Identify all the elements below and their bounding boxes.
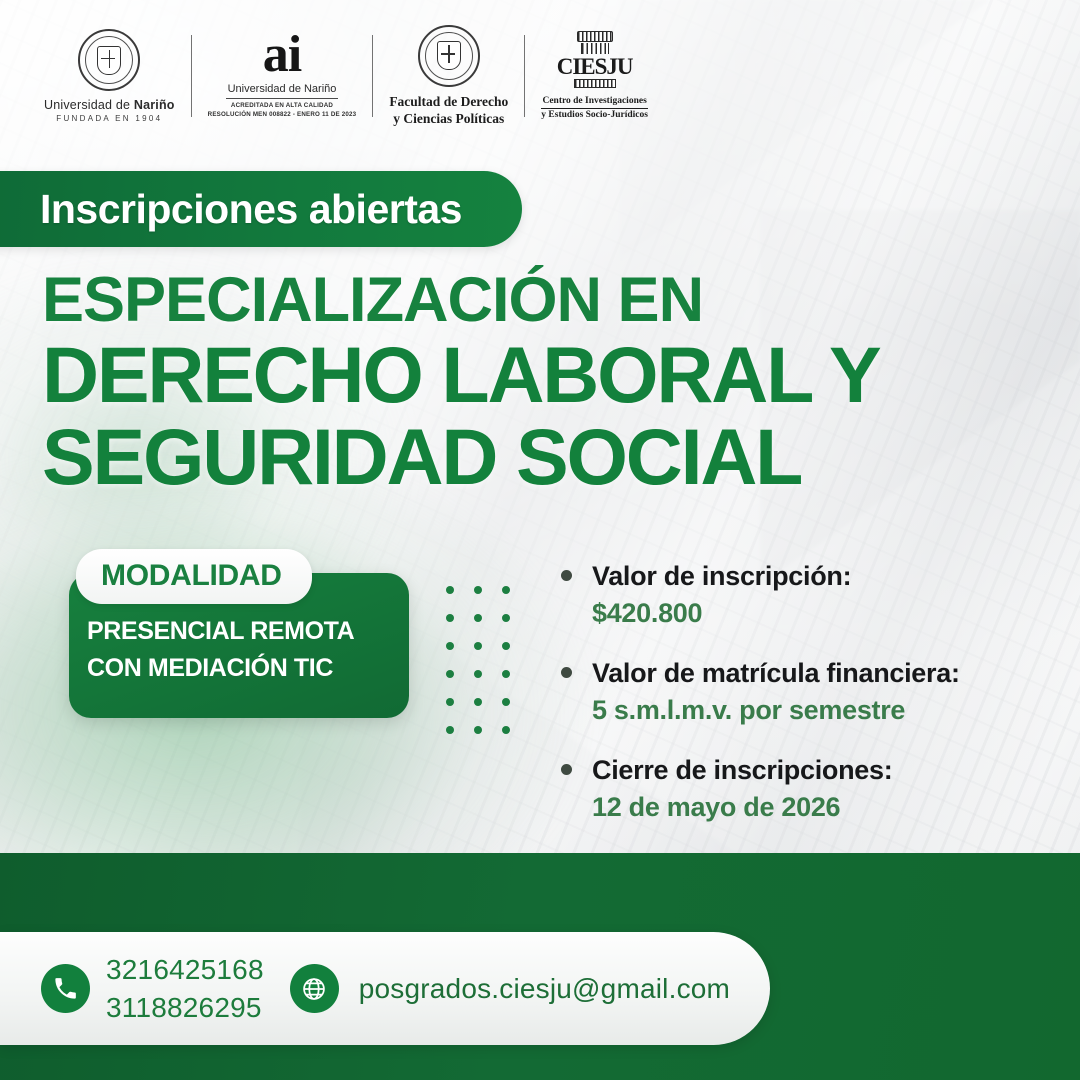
program-title: ESPECIALIZACIÓN EN DERECHO LABORAL Y SEG… xyxy=(42,268,1042,499)
logo-universidad-name-bold: Nariño xyxy=(134,98,175,112)
facultad-title: Facultad de Derecho y Ciencias Políticas xyxy=(389,94,508,128)
program-title-line3: SEGURIDAD SOCIAL xyxy=(42,416,1042,498)
info-label: Valor de inscripción: xyxy=(592,558,1028,595)
phone-number-1[interactable]: 3216425168 xyxy=(106,951,264,988)
ciesju-capital xyxy=(577,31,613,42)
modality-line2: CON MEDIACIÓN TIC xyxy=(87,650,354,687)
ciesju-shaft xyxy=(581,43,609,54)
ai-rule xyxy=(226,98,338,99)
ciesju-base xyxy=(574,79,616,88)
grid-dot xyxy=(446,586,454,594)
info-label: Valor de matrícula financiera: xyxy=(592,655,1028,692)
ciesju-subtitle-line1: Centro de Investigaciones xyxy=(541,95,648,108)
program-title-line2: DERECHO LABORAL Y xyxy=(42,334,1042,416)
phone-number-2[interactable]: 3118826295 xyxy=(106,989,264,1026)
modality-pill-label: MODALIDAD xyxy=(101,559,282,592)
info-value: 5 s.m.l.m.v. por semestre xyxy=(592,692,1028,730)
grid-dot xyxy=(446,642,454,650)
logo-strip: Universidad de Nariño FUNDADA EN 1904 ai… xyxy=(0,0,1080,152)
grid-dot xyxy=(474,726,482,734)
grid-dot xyxy=(502,614,510,622)
logo-divider-3 xyxy=(524,35,525,117)
ciesju-column-icon: CIESJU xyxy=(557,31,633,88)
grid-dot xyxy=(446,614,454,622)
program-title-line1: ESPECIALIZACIÓN EN xyxy=(42,268,1042,332)
grid-dot xyxy=(474,670,482,678)
grid-dot xyxy=(502,670,510,678)
ai-university-line: Universidad de Nariño xyxy=(228,83,337,95)
poster-root: Universidad de Nariño FUNDADA EN 1904 ai… xyxy=(0,0,1080,1080)
inscriptions-banner: Inscripciones abiertas xyxy=(0,171,522,247)
inscriptions-banner-label: Inscripciones abiertas xyxy=(0,186,462,233)
faculty-seal-icon xyxy=(418,25,480,87)
logo-divider-2 xyxy=(372,35,373,117)
logo-acreditacion: ai Universidad de Nariño ACREDITADA EN A… xyxy=(192,32,373,119)
grid-dot xyxy=(446,698,454,706)
ciesju-wordmark: CIESJU xyxy=(557,55,633,78)
bullet-icon xyxy=(561,570,572,581)
logo-universidad-narino: Universidad de Nariño FUNDADA EN 1904 xyxy=(28,29,191,123)
grid-dot xyxy=(474,614,482,622)
logo-universidad-founded: FUNDADA EN 1904 xyxy=(56,114,162,123)
modality-pill: MODALIDAD xyxy=(76,549,312,604)
globe-icon[interactable] xyxy=(290,964,339,1013)
ciesju-subtitle: Centro de Investigaciones y Estudios Soc… xyxy=(541,95,648,121)
facultad-title-line1: Facultad de Derecho xyxy=(389,94,508,111)
grid-dot xyxy=(474,698,482,706)
grid-dot xyxy=(502,586,510,594)
info-list: Valor de inscripción: $420.800 Valor de … xyxy=(558,558,1028,827)
logo-ciesju: CIESJU Centro de Investigaciones y Estud… xyxy=(525,31,664,121)
logo-universidad-name: Universidad de Nariño xyxy=(44,98,175,112)
modality-line1: PRESENCIAL REMOTA xyxy=(87,613,354,650)
shield-glyph xyxy=(97,46,121,75)
logo-universidad-name-light: Universidad de xyxy=(44,98,134,112)
ai-accreditation-line2: RESOLUCIÓN MEN 008822 - ENERO 11 DE 2023 xyxy=(208,110,357,119)
info-item-matricula: Valor de matrícula financiera: 5 s.m.l.m… xyxy=(558,655,1028,730)
contact-card: 3216425168 3118826295 posgrados.ciesju@g… xyxy=(0,932,770,1045)
info-label: Cierre de inscripciones: xyxy=(592,752,1028,789)
logo-facultad-derecho: Facultad de Derecho y Ciencias Políticas xyxy=(373,25,524,128)
decorative-dot-grid xyxy=(446,586,530,754)
ai-monogram-icon: ai xyxy=(263,32,301,79)
email-address[interactable]: posgrados.ciesju@gmail.com xyxy=(359,973,730,1005)
grid-dot xyxy=(446,726,454,734)
grid-dot xyxy=(502,726,510,734)
bullet-icon xyxy=(561,764,572,775)
info-item-cierre: Cierre de inscripciones: 12 de mayo de 2… xyxy=(558,752,1028,827)
info-value: 12 de mayo de 2026 xyxy=(592,789,1028,827)
ciesju-subtitle-line2: y Estudios Socio-Jurídicos xyxy=(541,109,648,121)
bullet-icon xyxy=(561,667,572,678)
shield-glyph xyxy=(437,41,461,70)
university-seal-icon xyxy=(78,29,140,91)
info-value: $420.800 xyxy=(592,595,1028,633)
phone-numbers[interactable]: 3216425168 3118826295 xyxy=(106,951,264,1025)
grid-dot xyxy=(474,642,482,650)
info-item-inscripcion: Valor de inscripción: $420.800 xyxy=(558,558,1028,633)
grid-dot xyxy=(446,670,454,678)
logo-divider-1 xyxy=(191,35,192,117)
grid-dot xyxy=(502,698,510,706)
grid-dot xyxy=(474,586,482,594)
modality-description: PRESENCIAL REMOTA CON MEDIACIÓN TIC xyxy=(87,613,354,687)
grid-dot xyxy=(502,642,510,650)
facultad-title-line2: y Ciencias Políticas xyxy=(389,111,508,128)
phone-icon[interactable] xyxy=(41,964,90,1013)
ai-accreditation-line1: ACREDITADA EN ALTA CALIDAD xyxy=(231,101,333,110)
